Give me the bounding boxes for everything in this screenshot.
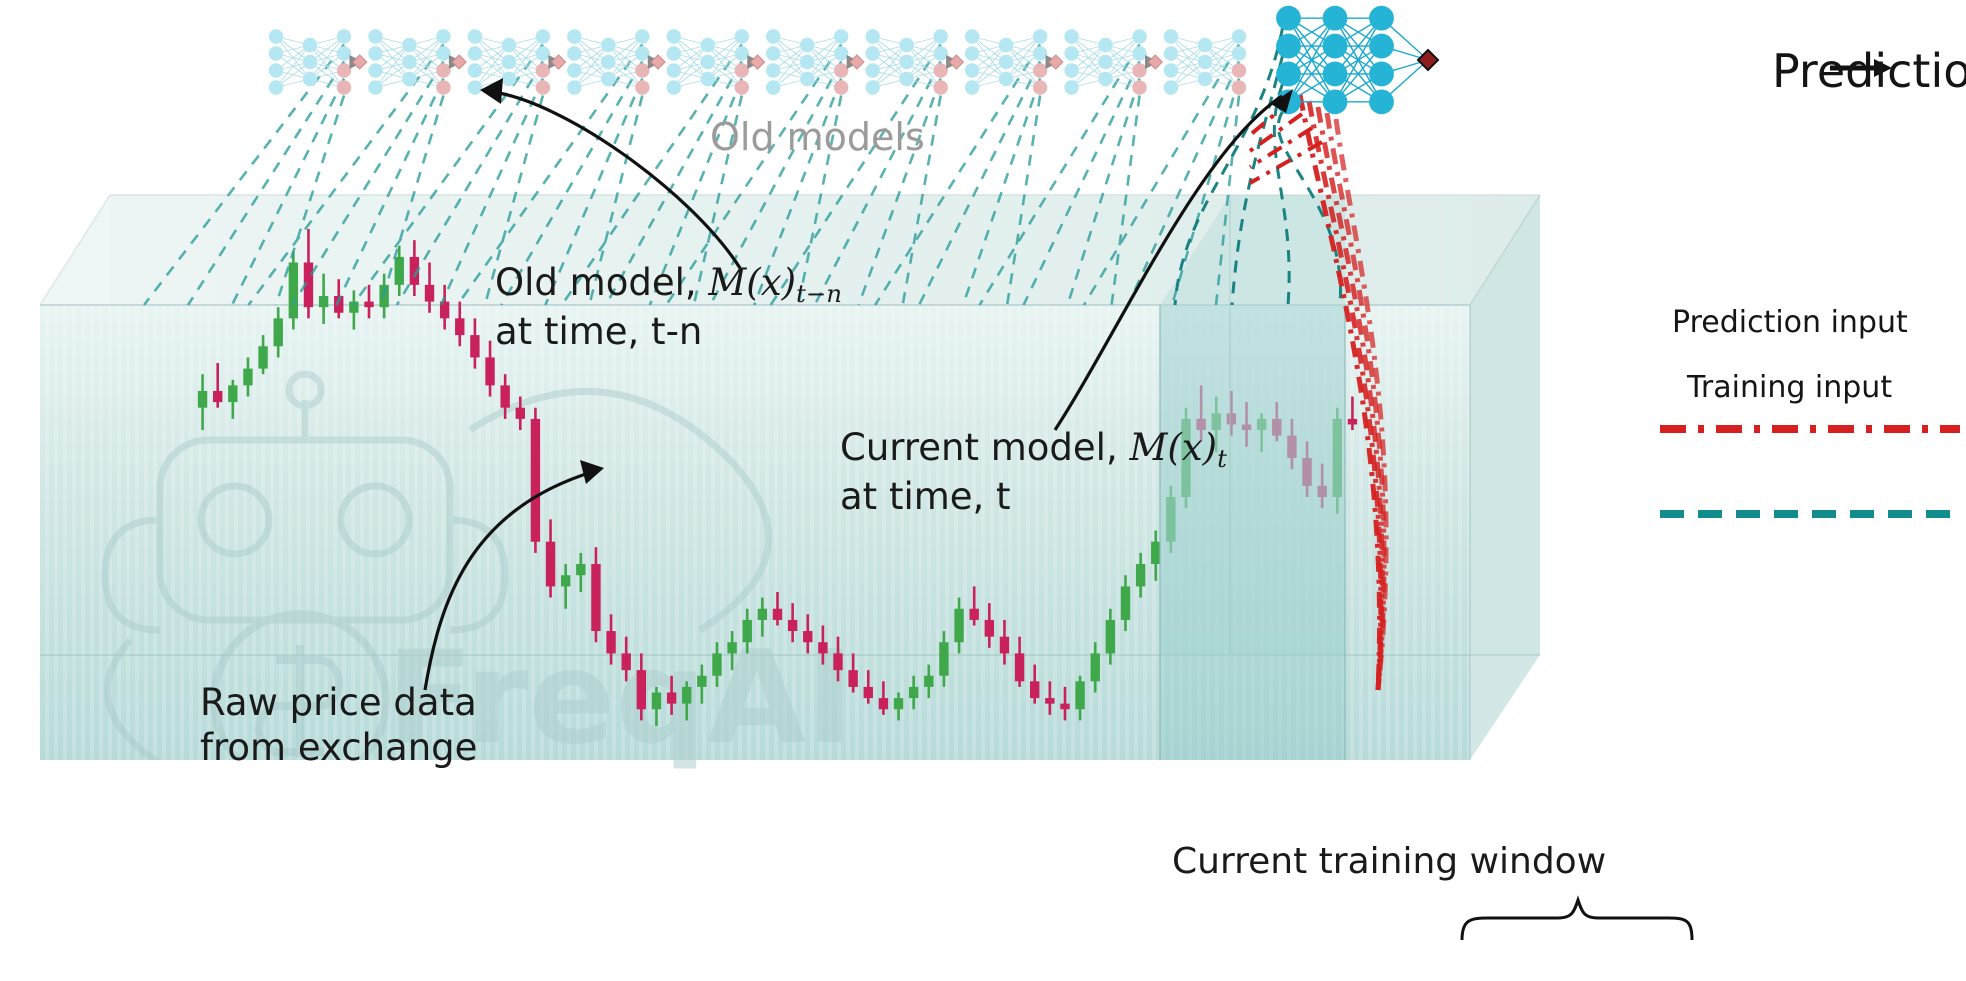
legend-label-training-input: Training input bbox=[1687, 370, 1892, 405]
current-model-text: Current model, bbox=[840, 426, 1129, 469]
old-model-text: Old model, bbox=[495, 261, 708, 304]
old-models-label: Old models bbox=[710, 115, 925, 159]
raw-price-line1: Raw price data bbox=[200, 680, 477, 725]
old-model-math-x: (x) bbox=[746, 261, 796, 304]
raw-price-line2: from exchange bbox=[200, 725, 477, 770]
current-model-time: at time, t bbox=[840, 474, 1227, 519]
legend-swatch-prediction-input bbox=[1660, 420, 1966, 438]
current-model-math-x: (x) bbox=[1167, 426, 1217, 469]
raw-price-annotation: Raw price data from exchange bbox=[200, 680, 477, 770]
old-model-time: at time, t-n bbox=[495, 309, 842, 354]
training-window-brace bbox=[1462, 900, 1692, 940]
current-model-annotation: Current model, M(x)t at time, t bbox=[840, 425, 1227, 519]
current-model-math-m: M bbox=[1129, 426, 1167, 469]
prediction-label: Prediction bbox=[1772, 44, 1966, 98]
old-model-math-m: M bbox=[708, 261, 746, 304]
legend-label-prediction-input: Prediction input bbox=[1672, 305, 1908, 340]
current-model-math-sub: t bbox=[1217, 444, 1227, 473]
figure-canvas: FreqAI bbox=[0, 0, 1966, 981]
legend-swatch-training-input bbox=[1660, 505, 1966, 523]
old-model-annotation: Old model, M(x)t−n at time, t-n bbox=[495, 260, 842, 354]
current-training-window-label: Current training window bbox=[1172, 840, 1606, 884]
old-model-math-sub: t−n bbox=[796, 279, 842, 308]
